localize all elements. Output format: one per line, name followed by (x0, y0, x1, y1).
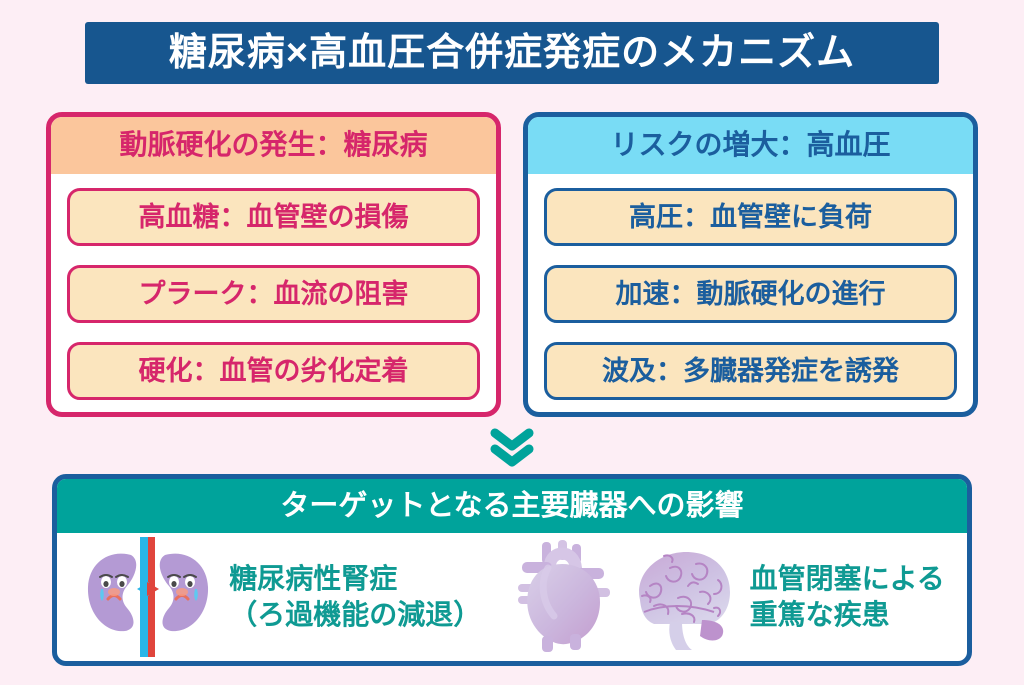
page-title-bar: 糖尿病×高血圧合併症発症のメカニズム (85, 22, 939, 84)
organ-group-heart-brain: 血管閉塞による 重篤な疾患 (510, 538, 945, 656)
panel-diabetes-item-2: プラーク：血流の阻害 (139, 281, 409, 308)
flow-divider (0, 424, 1024, 472)
cause-panels: 動脈硬化の発生：糖尿病 高血糖：血管壁の損傷 プラーク：血流の阻害 硬化：血管の… (46, 112, 978, 417)
kidneys-icon (79, 537, 219, 657)
organ-kidney-line1: 糖尿病性腎症 (229, 563, 397, 594)
organ-heart-brain-line2: 重篤な疾患 (750, 597, 945, 633)
panel-hypertension-item-2: 加速：動脈硬化の進行 (616, 281, 886, 308)
panel-target-organs-title: ターゲットとなる主要臓器への影響 (280, 492, 743, 521)
panel-hypertension-body: 高圧：血管壁に負荷 加速：動脈硬化の進行 波及：多臓器発症を誘発 (528, 174, 973, 412)
list-item: 硬化：血管の劣化定着 (67, 342, 480, 400)
panel-diabetes: 動脈硬化の発生：糖尿病 高血糖：血管壁の損傷 プラーク：血流の阻害 硬化：血管の… (46, 112, 501, 417)
panel-hypertension-header: リスクの増大：高血圧 (527, 116, 974, 174)
organ-label-heart-brain: 血管閉塞による 重篤な疾患 (750, 561, 945, 633)
page-title: 糖尿病×高血圧合併症発症のメカニズム (169, 34, 855, 72)
list-item: 高圧：血管壁に負荷 (544, 188, 957, 246)
double-chevron-down-icon (489, 428, 535, 468)
heart-icon (510, 538, 614, 656)
organ-heart-brain-line1: 血管閉塞による (750, 563, 945, 594)
panel-diabetes-body: 高血糖：血管壁の損傷 プラーク：血流の阻害 硬化：血管の劣化定着 (51, 174, 496, 412)
brain-icon (624, 542, 740, 652)
organ-kidney-line2: （ろ過機能の減退） (229, 597, 481, 633)
panel-target-organs: ターゲットとなる主要臓器への影響 (52, 474, 972, 666)
panel-hypertension: リスクの増大：高血圧 高圧：血管壁に負荷 加速：動脈硬化の進行 波及：多臓器発症… (523, 112, 978, 417)
panel-diabetes-item-3: 硬化：血管の劣化定着 (139, 358, 409, 385)
panel-target-organs-header: ターゲットとなる主要臓器への影響 (57, 479, 967, 533)
panel-hypertension-title: リスクの増大：高血圧 (610, 131, 890, 159)
panel-diabetes-title: 動脈硬化の発生：糖尿病 (119, 131, 427, 159)
list-item: 加速：動脈硬化の進行 (544, 265, 957, 323)
organ-group-kidney: 糖尿病性腎症 （ろ過機能の減退） (79, 537, 481, 657)
panel-hypertension-item-1: 高圧：血管壁に負荷 (629, 204, 872, 231)
panel-hypertension-item-3: 波及：多臓器発症を誘発 (602, 358, 899, 385)
list-item: 高血糖：血管壁の損傷 (67, 188, 480, 246)
list-item: 波及：多臓器発症を誘発 (544, 342, 957, 400)
panel-diabetes-header: 動脈硬化の発生：糖尿病 (50, 116, 497, 174)
list-item: プラーク：血流の阻害 (67, 265, 480, 323)
panel-target-organs-body: 糖尿病性腎症 （ろ過機能の減退） (57, 533, 967, 661)
panel-diabetes-item-1: 高血糖：血管壁の損傷 (139, 204, 409, 231)
organ-label-kidney: 糖尿病性腎症 （ろ過機能の減退） (229, 561, 481, 633)
